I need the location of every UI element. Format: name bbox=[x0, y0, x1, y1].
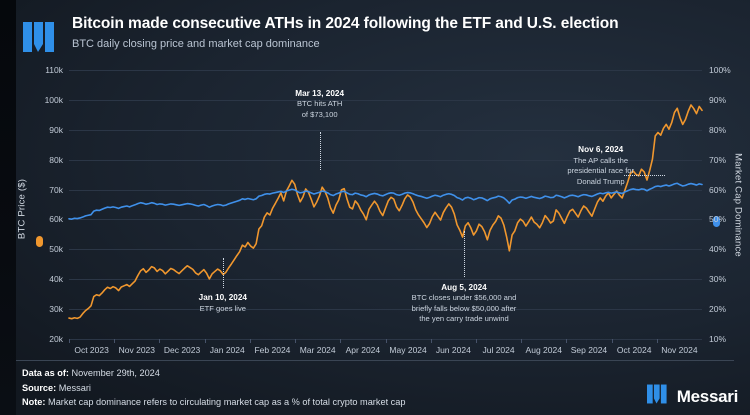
x-axis-tick-mark bbox=[159, 339, 160, 343]
x-axis-tick-mark bbox=[566, 339, 567, 343]
footer-logo: Messari bbox=[646, 382, 738, 411]
plot-area: 20k30k40k50k60k70k80k90k100k110k 10%20%3… bbox=[69, 70, 702, 339]
messari-wordmark: Messari bbox=[677, 387, 738, 407]
annotation-ap-calls-race: Nov 6, 2024The AP calls thepresidential … bbox=[567, 145, 634, 187]
footer-divider bbox=[16, 360, 734, 361]
footer-data-as-of: Data as of: November 29th, 2024 bbox=[22, 366, 406, 381]
y-axis-right-tick-label: 90% bbox=[709, 95, 726, 105]
annotation-leader-line bbox=[624, 175, 665, 176]
y-axis-left-tick-label: 50k bbox=[49, 244, 63, 254]
annotation-text: BTC hits ATH bbox=[295, 99, 344, 110]
x-axis-tick-mark bbox=[205, 339, 206, 343]
left-accent-band bbox=[0, 0, 16, 415]
chart-container: BTC Price ($) 20k30k40k50k60k70k80k90k10… bbox=[16, 64, 744, 354]
footer-data-as-of-label: Data as of: bbox=[22, 368, 69, 378]
footer-note-value: Market cap dominance refers to circulati… bbox=[48, 397, 405, 407]
annotation-text: the yen carry trade unwind bbox=[412, 314, 517, 325]
x-axis-tick-mark bbox=[386, 339, 387, 343]
y-axis-left-tick-label: 110k bbox=[45, 65, 63, 75]
y-axis-left-tick-label: 70k bbox=[49, 185, 63, 195]
page-subtitle: BTC daily closing price and market cap d… bbox=[72, 36, 619, 52]
x-axis-tick-mark bbox=[521, 339, 522, 343]
annotation-date: Aug 5, 2024 bbox=[412, 283, 517, 294]
footer-source: Source: Messari bbox=[22, 381, 406, 396]
annotation-text: Donald Trump bbox=[567, 177, 634, 188]
y-axis-left-tick-label: 60k bbox=[49, 214, 63, 224]
annotation-leader-line bbox=[223, 258, 224, 288]
x-axis-tick-label: Dec 2023 bbox=[164, 345, 200, 355]
annotation-text: ETF goes live bbox=[199, 304, 247, 315]
y-axis-left-tick-label: 80k bbox=[49, 155, 63, 165]
x-axis-tick-label: Oct 2024 bbox=[617, 345, 652, 355]
x-axis-tick-label: Apr 2024 bbox=[346, 345, 381, 355]
btc-price-legend-dot bbox=[36, 236, 43, 247]
x-axis-tick-mark bbox=[612, 339, 613, 343]
x-axis-tick-mark bbox=[295, 339, 296, 343]
x-axis-tick-mark bbox=[476, 339, 477, 343]
messari-logo-icon bbox=[22, 18, 62, 61]
x-axis-tick-label: Nov 2024 bbox=[661, 345, 697, 355]
y-axis-right-tick-label: 70% bbox=[709, 155, 726, 165]
footer-note: Note: Market cap dominance refers to cir… bbox=[22, 395, 406, 410]
annotation-date: Nov 6, 2024 bbox=[567, 145, 634, 156]
y-axis-left-title: BTC Price ($) bbox=[17, 179, 28, 239]
x-axis-tick-label: Nov 2023 bbox=[119, 345, 155, 355]
x-axis-tick-label: Oct 2023 bbox=[74, 345, 109, 355]
annotation-leader-line bbox=[464, 231, 465, 277]
annotation-btc-ath-march: Mar 13, 2024BTC hits ATHof $73,100 bbox=[295, 89, 344, 121]
series-line-btc-price bbox=[69, 105, 702, 319]
y-axis-right-tick-label: 100% bbox=[709, 65, 731, 75]
y-axis-right-tick-label: 10% bbox=[709, 334, 726, 344]
annotation-text: BTC closes under $56,000 and bbox=[412, 293, 517, 304]
x-axis-tick-mark bbox=[657, 339, 658, 343]
annotation-date: Jan 10, 2024 bbox=[199, 293, 247, 304]
y-axis-left-tick-label: 30k bbox=[49, 304, 63, 314]
chart-page: Bitcoin made consecutive ATHs in 2024 fo… bbox=[0, 0, 750, 415]
y-axis-left-tick-label: 100k bbox=[45, 95, 63, 105]
x-axis-tick-label: Jul 2024 bbox=[482, 345, 514, 355]
y-axis-left-tick-label: 20k bbox=[49, 334, 63, 344]
annotation-yen-carry-unwind: Aug 5, 2024BTC closes under $56,000 andb… bbox=[412, 283, 517, 325]
x-axis-tick-label: Jun 2024 bbox=[436, 345, 471, 355]
x-axis-tick-mark bbox=[250, 339, 251, 343]
footer-source-label: Source: bbox=[22, 383, 56, 393]
y-axis-left-tick-label: 90k bbox=[49, 125, 63, 135]
chart-header: Bitcoin made consecutive ATHs in 2024 fo… bbox=[16, 12, 740, 62]
annotation-date: Mar 13, 2024 bbox=[295, 89, 344, 100]
y-axis-left-tick-label: 40k bbox=[49, 274, 63, 284]
x-axis-tick-mark bbox=[431, 339, 432, 343]
y-axis-right-tick-label: 80% bbox=[709, 125, 726, 135]
x-axis-tick-label: Feb 2024 bbox=[254, 345, 290, 355]
y-axis-right-tick-label: 30% bbox=[709, 274, 726, 284]
y-axis-right-tick-label: 40% bbox=[709, 244, 726, 254]
messari-logo-icon-footer bbox=[646, 382, 672, 411]
x-axis-tick-mark bbox=[114, 339, 115, 343]
x-axis-tick-label: Mar 2024 bbox=[300, 345, 336, 355]
x-axis-tick-mark bbox=[340, 339, 341, 343]
footer-source-value: Messari bbox=[59, 383, 91, 393]
x-axis-tick-label: Jan 2024 bbox=[210, 345, 245, 355]
y-axis-right-tick-label: 20% bbox=[709, 304, 726, 314]
annotation-etf-launch: Jan 10, 2024ETF goes live bbox=[199, 293, 247, 314]
annotation-text: The AP calls the bbox=[567, 156, 634, 167]
x-axis-tick-mark bbox=[69, 339, 70, 343]
footer: Data as of: November 29th, 2024 Source: … bbox=[22, 366, 406, 410]
annotation-leader-line bbox=[320, 132, 321, 170]
y-axis-right-tick-label: 60% bbox=[709, 185, 726, 195]
series-line-dominance bbox=[69, 183, 702, 219]
y-axis-right-title: Market Cap Dominance bbox=[733, 153, 744, 257]
x-axis-tick-label: Aug 2024 bbox=[526, 345, 562, 355]
x-axis-tick-label: May 2024 bbox=[389, 345, 426, 355]
annotation-text: of $73,100 bbox=[295, 110, 344, 121]
page-title: Bitcoin made consecutive ATHs in 2024 fo… bbox=[72, 14, 619, 34]
x-axis-tick-label: Sep 2024 bbox=[571, 345, 607, 355]
y-axis-right-tick-label: 50% bbox=[709, 214, 726, 224]
footer-data-as-of-value: November 29th, 2024 bbox=[72, 368, 160, 378]
annotation-text: briefly falls below $50,000 after bbox=[412, 304, 517, 315]
series-lines bbox=[69, 70, 702, 339]
footer-note-label: Note: bbox=[22, 397, 45, 407]
